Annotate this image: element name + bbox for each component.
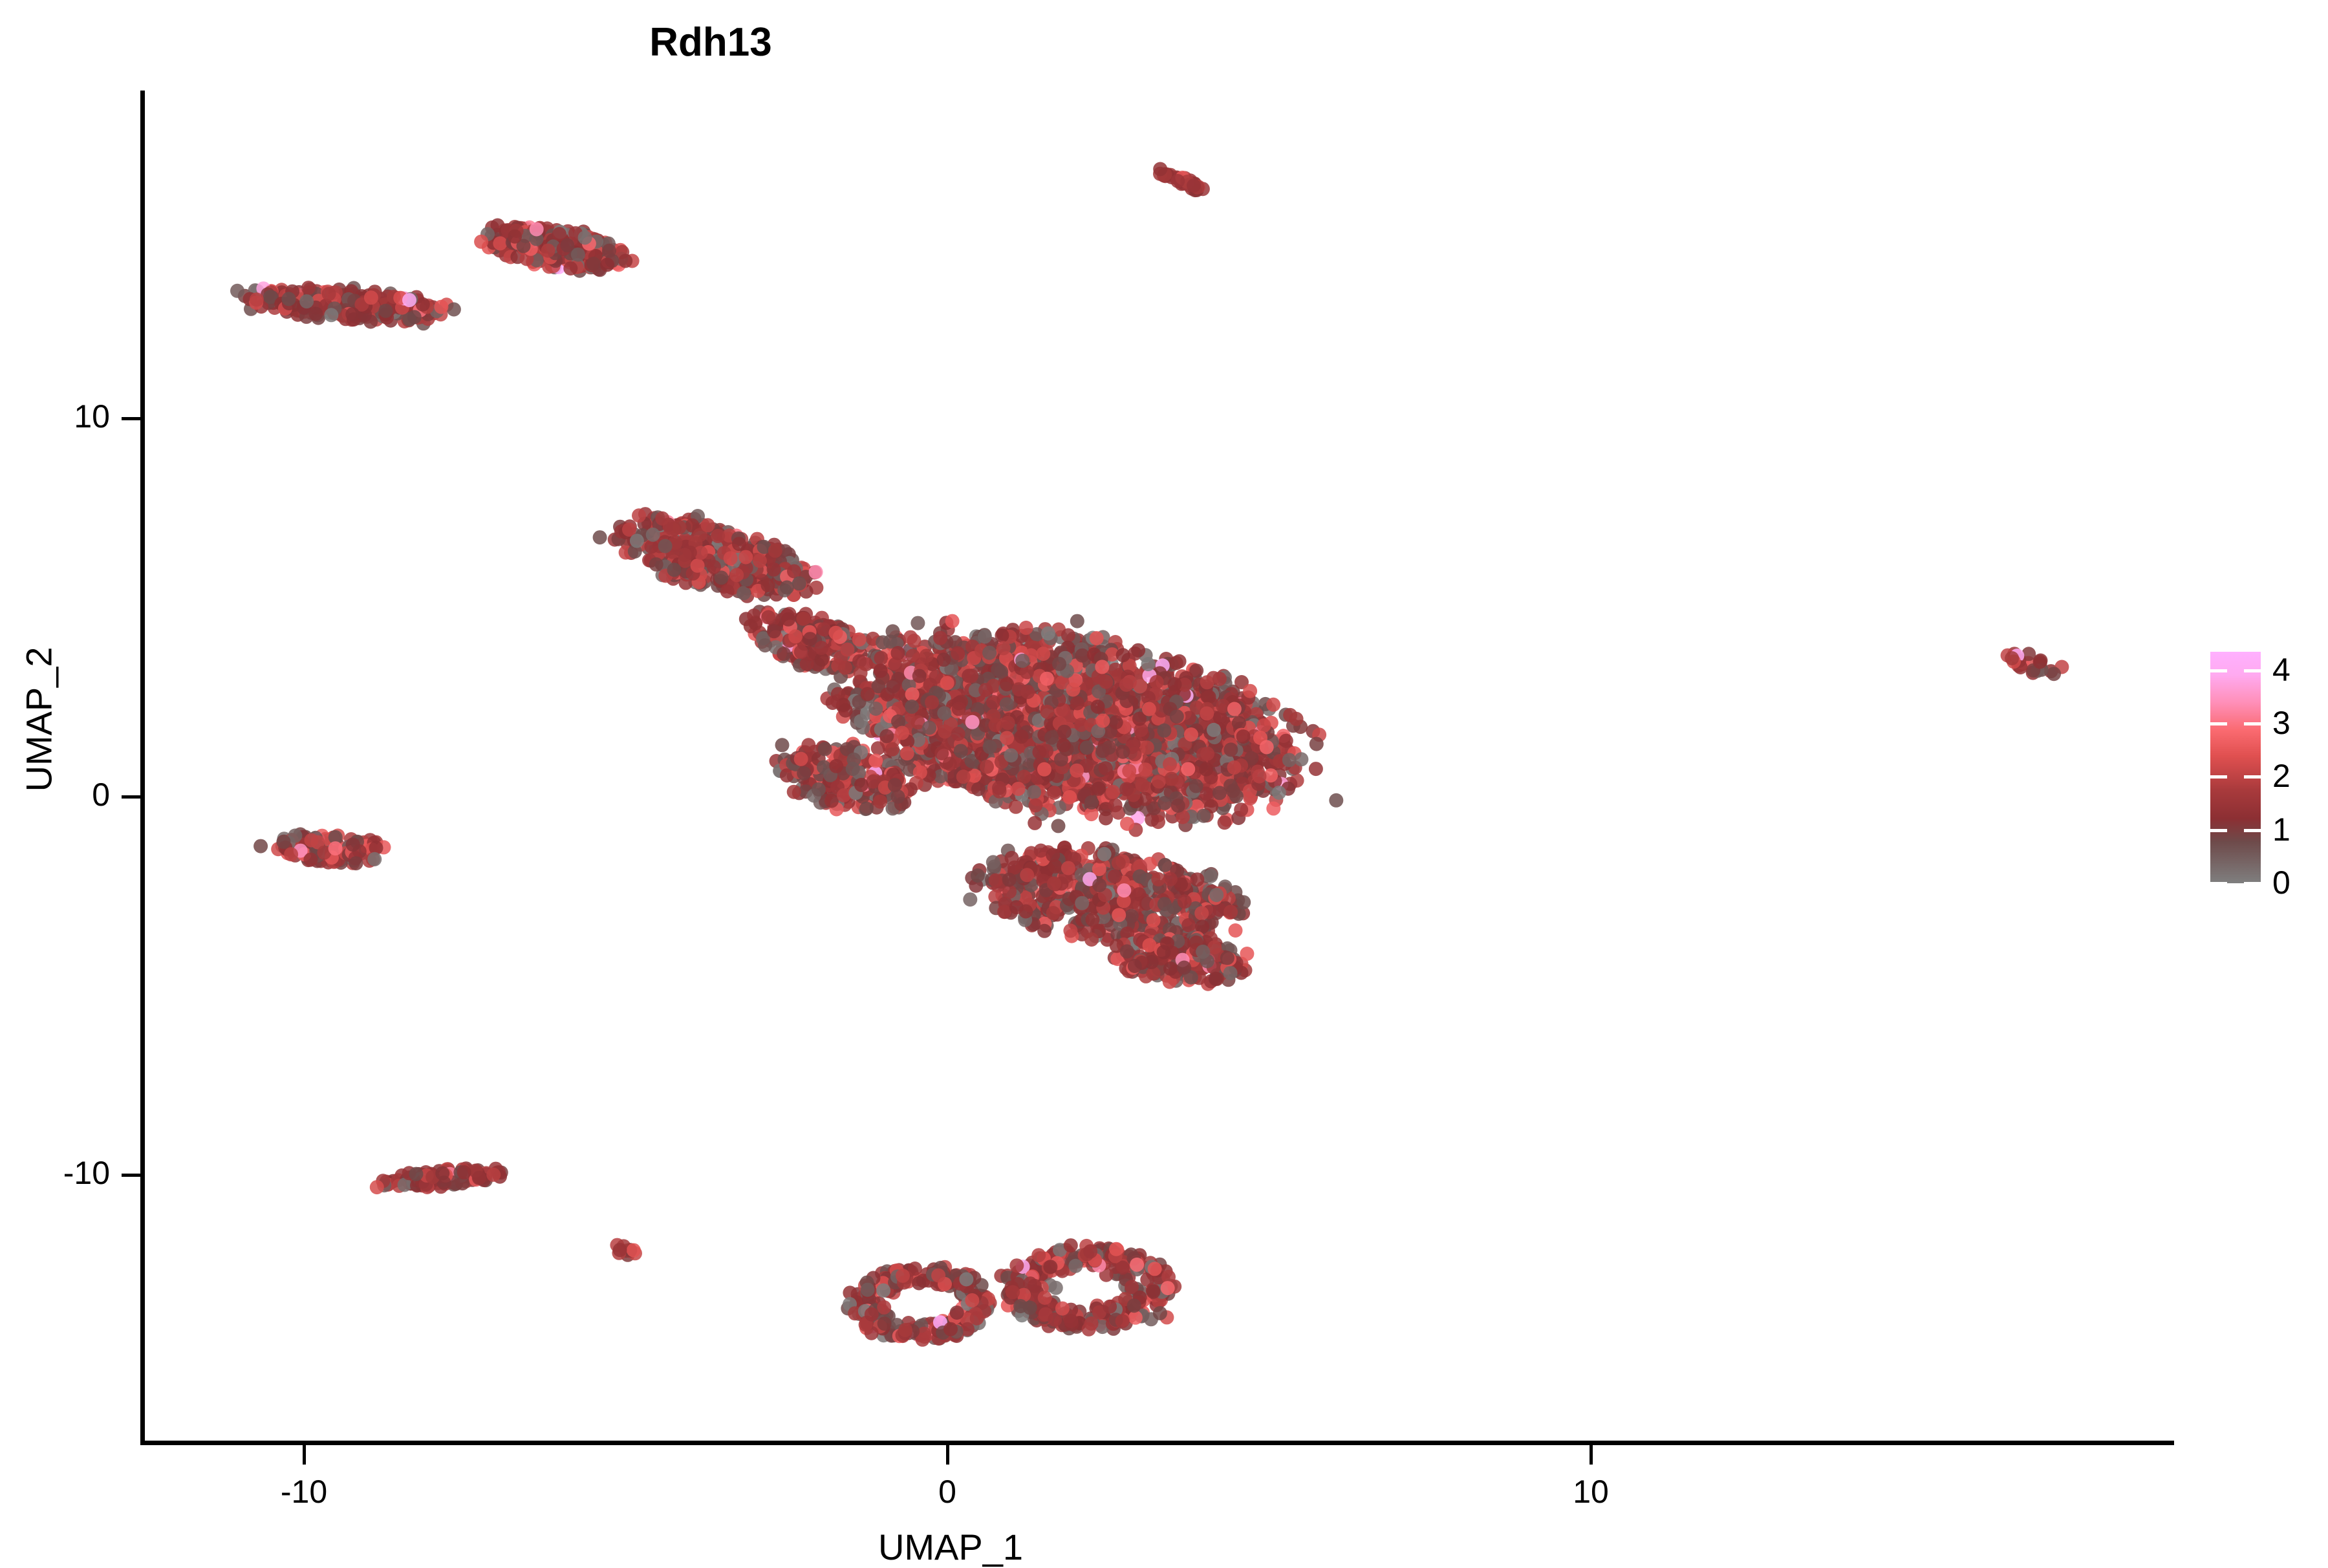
scatter-point <box>1127 1298 1141 1313</box>
scatter-point <box>447 303 461 317</box>
scatter-point <box>282 292 296 306</box>
scatter-point <box>701 518 715 532</box>
scatter-point <box>1196 809 1211 823</box>
scatter-point <box>253 839 268 854</box>
scatter-point <box>1170 174 1185 188</box>
scatter-point <box>729 568 744 582</box>
scatter-point <box>886 624 900 638</box>
scatter-point <box>1200 675 1214 689</box>
scatter-point <box>1227 760 1242 775</box>
scatter-point <box>1070 614 1084 628</box>
scatter-point <box>1229 923 1243 938</box>
scatter-point <box>1001 716 1015 730</box>
scatter-point <box>655 511 669 526</box>
scatter-point <box>284 847 298 861</box>
scatter-point <box>1161 1281 1175 1295</box>
scatter-point <box>303 853 318 867</box>
scatter-point <box>301 281 316 295</box>
scatter-point <box>1049 1281 1063 1295</box>
scatter-point <box>809 565 823 579</box>
scatter-point <box>1013 1299 1028 1313</box>
scatter-point <box>767 624 781 638</box>
scatter-point <box>230 284 244 298</box>
scatter-point <box>1080 740 1094 755</box>
scatter-point <box>767 563 781 577</box>
scatter-point <box>1119 782 1134 796</box>
scatter-point <box>720 585 735 599</box>
scatter-point <box>1062 790 1077 804</box>
scatter-point <box>1150 675 1164 689</box>
scatter-point <box>787 564 801 579</box>
scatter-point <box>632 508 646 522</box>
scatter-point <box>646 528 660 542</box>
scatter-point <box>1116 648 1130 662</box>
scatter-point <box>1152 774 1166 788</box>
scatter-point <box>943 1322 958 1337</box>
scatter-point <box>367 852 382 866</box>
scatter-point <box>1128 1311 1143 1325</box>
scatter-point <box>876 1283 890 1298</box>
scatter-point <box>780 581 794 595</box>
scatter-point <box>2005 651 2019 665</box>
scatter-point <box>738 550 753 564</box>
scatter-point <box>1138 762 1152 777</box>
scatter-point <box>895 726 909 740</box>
scatter-point <box>1048 786 1062 800</box>
scatter-point <box>1057 725 1072 739</box>
scatter-point <box>1170 709 1184 724</box>
scatter-point <box>1043 1260 1057 1274</box>
scatter-point <box>600 258 614 272</box>
scatter-point <box>970 1311 984 1326</box>
scatter-point <box>788 629 803 643</box>
scatter-point <box>861 1283 875 1297</box>
scatter-point <box>868 702 883 716</box>
scatter-point <box>1329 793 1343 808</box>
scatter-point <box>1028 799 1042 813</box>
scatter-point <box>673 520 687 534</box>
scatter-point <box>602 244 616 258</box>
scatter-point <box>943 757 957 771</box>
scatter-point <box>1061 628 1075 643</box>
scatter-point <box>986 695 1000 709</box>
scatter-point <box>980 760 994 774</box>
scatter-point <box>1279 734 1293 748</box>
scatter-point <box>978 630 992 644</box>
scatter-point <box>1266 801 1280 815</box>
scatter-point <box>951 646 965 660</box>
scatter-point <box>925 695 939 709</box>
scatter-point <box>978 683 993 697</box>
scatter-point <box>1019 621 1033 635</box>
scatter-point <box>905 700 919 714</box>
scatter-point <box>667 563 682 577</box>
scatter-point <box>402 293 416 307</box>
scatter-point <box>959 1273 973 1287</box>
scatter-point <box>951 727 965 741</box>
scatter-point <box>649 557 663 572</box>
scatter-point <box>838 661 852 675</box>
scatter-point <box>1040 705 1054 719</box>
scatter-point <box>829 626 843 640</box>
scatter-point <box>658 539 673 553</box>
scatter-point <box>964 669 978 683</box>
scatter-point <box>777 647 791 661</box>
scatter-point <box>1169 656 1183 670</box>
scatter-point <box>1015 729 1029 744</box>
scatter-point <box>903 630 918 645</box>
scatter-point <box>724 551 738 565</box>
scatter-point <box>1158 796 1172 810</box>
scatter-point <box>1017 769 1031 784</box>
scatter-point <box>732 537 746 551</box>
scatter-point <box>1234 802 1248 817</box>
scatter-point <box>933 631 947 645</box>
scatter-point <box>954 744 968 758</box>
scatter-point <box>571 248 585 262</box>
scatter-point <box>1115 1314 1130 1328</box>
scatter-point <box>457 1165 471 1179</box>
scatter-point <box>1027 785 1041 799</box>
scatter-point <box>1266 698 1280 712</box>
scatter-point <box>407 310 422 324</box>
scatter-point <box>876 635 890 649</box>
scatter-point <box>541 244 555 258</box>
scatter-point <box>874 651 889 665</box>
scatter-point <box>879 729 894 744</box>
scatter-point <box>1187 178 1201 193</box>
scatter-point-layer <box>0 0 2328 1552</box>
scatter-point <box>931 1269 945 1283</box>
scatter-point <box>937 706 951 720</box>
scatter-point <box>854 714 868 728</box>
scatter-point <box>768 544 782 558</box>
scatter-point <box>1084 1316 1099 1331</box>
scatter-point <box>345 307 360 321</box>
scatter-point <box>1070 696 1084 711</box>
scatter-point <box>900 746 914 760</box>
scatter-point <box>1055 1302 1070 1316</box>
scatter-point <box>1051 819 1066 833</box>
scatter-point <box>1147 1285 1161 1299</box>
scatter-point <box>854 666 868 680</box>
scatter-point <box>840 643 854 657</box>
scatter-point <box>997 641 1011 655</box>
scatter-point <box>965 1293 979 1307</box>
scatter-point <box>530 222 544 237</box>
scatter-point <box>1227 702 1242 716</box>
scatter-point <box>563 261 577 275</box>
scatter-point <box>940 676 954 690</box>
scatter-point <box>305 833 319 848</box>
scatter-point <box>896 1269 910 1283</box>
scatter-point <box>922 721 936 735</box>
scatter-point <box>1282 753 1297 768</box>
scatter-point <box>1141 657 1156 671</box>
scatter-point <box>826 696 840 710</box>
scatter-point <box>1095 660 1109 674</box>
scatter-point <box>792 576 806 590</box>
scatter-point <box>630 533 644 548</box>
scatter-point <box>1148 1262 1162 1276</box>
scatter-point <box>379 304 393 318</box>
scatter-point <box>1092 782 1106 796</box>
scatter-point <box>1218 815 1232 830</box>
scatter-point <box>493 236 507 250</box>
scatter-point <box>1142 702 1156 716</box>
umap-feature-plot: Rdh13 UMAP_2 UMAP_1 -10010-10010 01234 <box>0 0 2328 1552</box>
scatter-point <box>1122 764 1136 778</box>
scatter-point <box>486 1168 501 1182</box>
scatter-point <box>1108 798 1123 812</box>
scatter-point <box>2033 655 2047 669</box>
scatter-point <box>276 835 290 849</box>
scatter-point <box>370 1180 384 1194</box>
scatter-point <box>1283 708 1297 722</box>
scatter-point <box>1115 745 1130 759</box>
scatter-point <box>346 837 360 852</box>
scatter-point <box>794 645 808 659</box>
scatter-point <box>349 856 363 870</box>
scatter-point <box>1200 747 1214 761</box>
scatter-point <box>618 254 632 268</box>
scatter-point <box>1120 817 1134 831</box>
scatter-point <box>1099 761 1113 775</box>
scatter-point <box>1006 1285 1020 1300</box>
scatter-point <box>1236 729 1251 744</box>
scatter-point <box>1000 731 1014 745</box>
scatter-point <box>1153 1306 1167 1320</box>
scatter-point <box>1272 786 1286 800</box>
scatter-point <box>1044 731 1059 745</box>
scatter-point <box>627 1243 641 1258</box>
scatter-point <box>691 559 705 573</box>
scatter-point <box>1037 762 1051 777</box>
scatter-point <box>329 841 343 855</box>
scatter-point <box>965 715 980 729</box>
scatter-point <box>613 1243 627 1257</box>
scatter-point <box>758 638 772 652</box>
scatter-point <box>1200 706 1214 720</box>
scatter-point <box>861 687 875 701</box>
scatter-point <box>1260 740 1274 755</box>
scatter-point <box>1084 795 1099 810</box>
scatter-point <box>678 548 692 562</box>
scatter-point <box>508 230 522 244</box>
scatter-point <box>1000 677 1014 691</box>
scatter-point <box>1309 762 1323 776</box>
scatter-point <box>936 652 951 667</box>
scatter-point <box>1257 718 1271 733</box>
scatter-point <box>1009 800 1023 814</box>
scatter-point <box>1106 785 1120 799</box>
scatter-point <box>322 287 336 301</box>
scatter-point <box>1108 663 1123 677</box>
scatter-point <box>888 658 902 672</box>
scatter-point <box>409 1167 424 1181</box>
scatter-point <box>309 306 323 321</box>
scatter-point <box>434 300 448 314</box>
scatter-point <box>989 718 1003 732</box>
scatter-point <box>878 1316 892 1331</box>
scatter-point <box>1207 723 1221 737</box>
scatter-point <box>1011 782 1026 796</box>
scatter-point <box>1009 1258 1024 1273</box>
scatter-point <box>982 646 997 660</box>
scatter-point <box>761 578 775 592</box>
scatter-point <box>644 539 658 553</box>
scatter-point <box>1090 631 1104 645</box>
scatter-point <box>911 616 925 630</box>
scatter-point <box>1163 757 1177 771</box>
scatter-point <box>587 257 601 271</box>
scatter-point <box>938 724 952 738</box>
scatter-point <box>1165 772 1179 786</box>
scatter-point <box>1064 1238 1078 1252</box>
scatter-point <box>753 553 767 568</box>
scatter-point <box>1199 762 1213 777</box>
scatter-point <box>781 612 795 627</box>
scatter-point <box>905 687 920 702</box>
scatter-point <box>1038 1291 1052 1305</box>
scatter-point <box>1171 799 1185 813</box>
scatter-point <box>1032 745 1046 759</box>
scatter-point <box>874 663 888 678</box>
scatter-point <box>1020 685 1035 699</box>
scatter-point <box>796 612 810 626</box>
scatter-point <box>711 529 725 543</box>
scatter-point <box>472 1171 486 1185</box>
scatter-point <box>761 610 775 625</box>
scatter-point <box>1223 742 1238 757</box>
scatter-point <box>1153 162 1167 177</box>
scatter-point <box>1157 724 1171 738</box>
scatter-point <box>898 1323 912 1337</box>
scatter-point <box>814 641 828 655</box>
scatter-point <box>2047 667 2061 681</box>
scatter-point <box>971 782 986 797</box>
scatter-point <box>1232 716 1246 730</box>
scatter-point <box>1028 816 1042 830</box>
scatter-point <box>1130 1258 1144 1272</box>
scatter-point <box>1103 1300 1117 1314</box>
scatter-point <box>250 292 264 306</box>
scatter-point <box>1181 762 1195 777</box>
scatter-point <box>991 663 1005 677</box>
scatter-point <box>1202 690 1216 704</box>
scatter-point <box>1189 779 1203 793</box>
scatter-point <box>950 1305 964 1320</box>
scatter-point <box>1309 737 1324 751</box>
scatter-point <box>1212 672 1227 686</box>
scatter-point <box>983 740 997 754</box>
scatter-point <box>1028 1279 1042 1293</box>
scatter-point <box>707 560 721 574</box>
scatter-point <box>912 669 927 683</box>
scatter-point <box>299 294 314 308</box>
scatter-point <box>1015 654 1029 668</box>
scatter-point <box>945 614 960 628</box>
scatter-point <box>1131 643 1145 658</box>
scatter-point <box>324 308 338 322</box>
scatter-point <box>912 1276 926 1291</box>
scatter-point <box>593 530 607 544</box>
scatter-point <box>1109 1242 1123 1256</box>
scatter-point <box>887 679 901 693</box>
scatter-point <box>578 231 592 245</box>
scatter-point <box>992 781 1006 795</box>
scatter-point <box>871 741 885 755</box>
scatter-point <box>852 632 867 647</box>
scatter-point <box>1036 647 1050 661</box>
scatter-point <box>474 235 488 249</box>
scatter-point <box>1212 786 1227 800</box>
scatter-point <box>1140 740 1154 755</box>
scatter-point <box>803 632 817 646</box>
scatter-point <box>1000 697 1014 711</box>
scatter-point <box>1095 744 1110 758</box>
scatter-point <box>1004 748 1018 762</box>
scatter-point <box>1052 657 1066 671</box>
scatter-point <box>1068 1259 1083 1273</box>
scatter-point <box>1095 714 1110 728</box>
scatter-point <box>744 619 758 633</box>
scatter-point <box>865 1307 879 1322</box>
scatter-point <box>1064 1314 1078 1328</box>
scatter-point <box>1070 764 1084 778</box>
scatter-point <box>1226 784 1240 798</box>
scatter-point <box>1031 1248 1046 1262</box>
scatter-point <box>1109 715 1123 729</box>
scatter-point <box>1184 727 1198 742</box>
scatter-point <box>1083 1245 1097 1259</box>
scatter-point <box>1243 684 1257 698</box>
scatter-point <box>560 238 574 252</box>
scatter-point <box>435 1166 449 1181</box>
scatter-point <box>1119 678 1134 692</box>
scatter-point <box>1040 672 1054 686</box>
scatter-point <box>1041 627 1055 641</box>
scatter-point <box>1253 769 1267 784</box>
scatter-point <box>1168 677 1182 691</box>
scatter-point <box>364 290 378 305</box>
scatter-point <box>1057 738 1071 753</box>
scatter-point <box>1091 700 1105 714</box>
scatter-point <box>877 1300 891 1315</box>
scatter-point <box>1066 683 1080 697</box>
scatter-point <box>956 769 971 784</box>
scatter-point <box>885 742 900 757</box>
